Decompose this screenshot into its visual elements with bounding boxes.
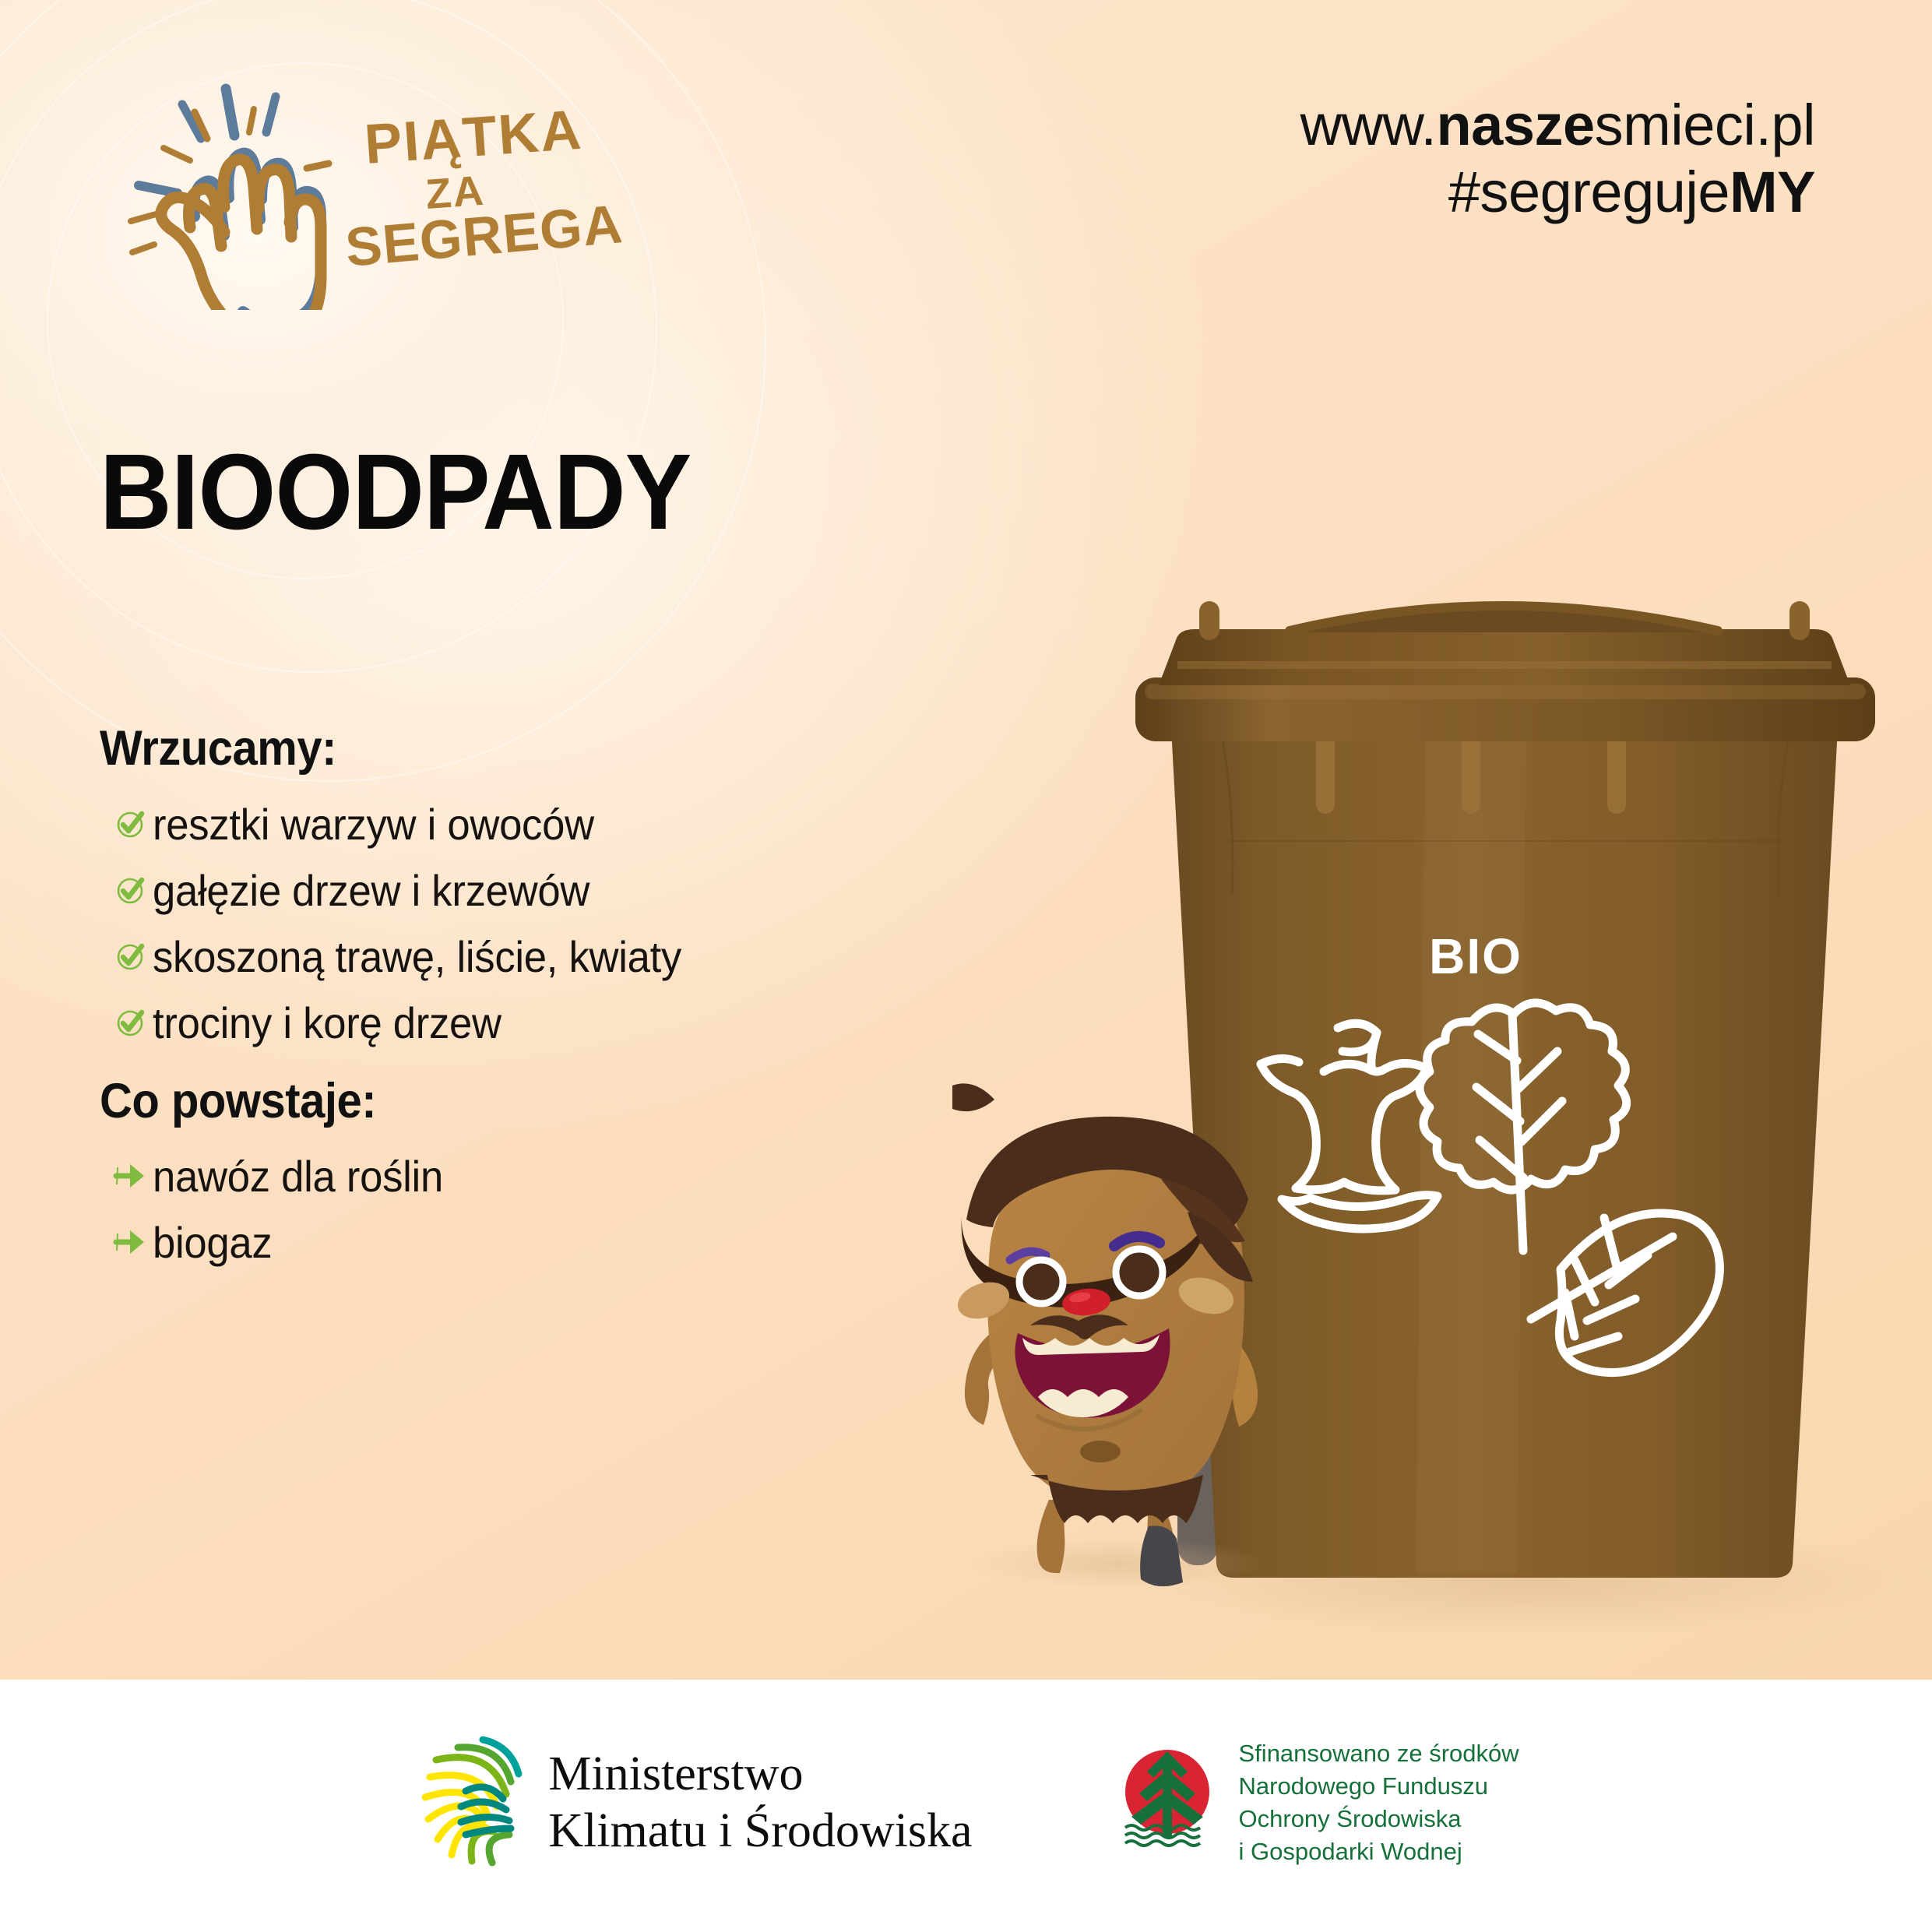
nfos-line-4: i Gospodarki Wodnej — [1239, 1835, 1519, 1868]
list-item: skoszoną trawę, liście, kwiaty — [109, 927, 715, 986]
bin-label: BIO — [1429, 928, 1522, 984]
check-circle-icon — [109, 1005, 153, 1040]
bin-rim-highlight — [1145, 684, 1866, 699]
hero-area: PIĄTKA ZA SEGREGACJĘ www.naszesmieci.pl … — [0, 0, 1932, 1680]
list-item: resztki warzyw i owoców — [109, 794, 715, 853]
ministry-line-2: Klimatu i Środowiska — [548, 1803, 972, 1860]
brand-logo[interactable]: PIĄTKA ZA SEGREGACJĘ — [92, 61, 621, 310]
website-block[interactable]: www.naszesmieci.pl #segregujeMY — [1300, 92, 1815, 226]
check-circle-icon — [109, 939, 153, 973]
bin-lid-pin-left — [1199, 601, 1219, 640]
bin-lid-pin-right — [1789, 601, 1810, 640]
arrow-right-icon — [109, 1160, 153, 1192]
list-item: nawóz dla roślin — [109, 1146, 462, 1205]
poster: PIĄTKA ZA SEGREGACJĘ www.naszesmieci.pl … — [0, 0, 1932, 1932]
nfos-line-2: Narodowego Funduszu — [1239, 1770, 1519, 1803]
list-co-powstaje: nawóz dla roślin biogaz — [109, 1146, 462, 1279]
list-item: trociny i korę drzew — [109, 993, 715, 1052]
hashtag-bold: MY — [1730, 160, 1815, 224]
section-heading-co-powstaje: Co powstaje: — [100, 1073, 376, 1129]
arrow-right-icon — [109, 1226, 153, 1258]
url-prefix: www. — [1300, 93, 1437, 157]
list-item-label: nawóz dla roślin — [153, 1151, 443, 1202]
list-item-label: gałęzie drzew i krzewów — [153, 865, 589, 916]
url-bold: nasze — [1436, 93, 1594, 157]
ministry-line-1: Ministerstwo — [548, 1746, 972, 1803]
mascot-shoe-right — [1140, 1526, 1183, 1586]
hashtag-prefix: #segreguje — [1448, 160, 1730, 224]
check-circle-icon — [109, 873, 153, 907]
mascot-eye-left — [1019, 1260, 1063, 1304]
section-heading-wrzucamy: Wrzucamy: — [100, 720, 336, 776]
list-item: biogaz — [109, 1212, 462, 1272]
mascot-shadow — [970, 1537, 1265, 1590]
bin-body-highlight — [1416, 732, 1526, 1573]
list-wrzucamy: resztki warzyw i owoców gałęzie drzew i … — [109, 794, 715, 1059]
list-item: gałęzie drzew i krzewów — [109, 860, 715, 920]
ministry-logo-block: Ministerstwo Klimatu i Środowiska — [413, 1732, 972, 1874]
website-url[interactable]: www.naszesmieci.pl — [1300, 92, 1815, 159]
logo-hand-icon — [161, 153, 321, 310]
mascot-eye-right — [1116, 1249, 1163, 1296]
page-title: BIOODPADY — [100, 438, 691, 546]
nfos-line-3: Ochrony Środowiska — [1239, 1803, 1519, 1835]
logo-text-piatka: PIĄTKA — [363, 99, 585, 176]
mascot-belly-dot — [1080, 1441, 1121, 1462]
check-circle-icon — [109, 807, 153, 841]
tree-circle-icon — [1113, 1747, 1222, 1860]
bin-lid — [1159, 629, 1850, 685]
potato-mascot-illustration — [938, 1067, 1304, 1596]
logo-wordmark: PIĄTKA ZA SEGREGACJĘ — [343, 99, 621, 278]
footer: Ministerstwo Klimatu i Środowiska — [0, 1680, 1932, 1932]
fingerprint-spiral-icon — [413, 1732, 528, 1874]
url-suffix: smieci.pl — [1595, 93, 1815, 157]
nfos-logo-block: Sfinansowano ze środków Narodowego Fundu… — [1113, 1737, 1519, 1869]
mascot-hair-tuft-c — [952, 1083, 994, 1111]
list-item-label: biogaz — [153, 1217, 272, 1268]
list-item-label: skoszoną trawę, liście, kwiaty — [153, 931, 681, 982]
list-item-label: trociny i korę drzew — [153, 998, 501, 1048]
list-item-label: resztki warzyw i owoców — [153, 799, 594, 850]
hashtag[interactable]: #segregujeMY — [1300, 159, 1815, 226]
nfos-line-1: Sfinansowano ze środków — [1239, 1737, 1519, 1770]
